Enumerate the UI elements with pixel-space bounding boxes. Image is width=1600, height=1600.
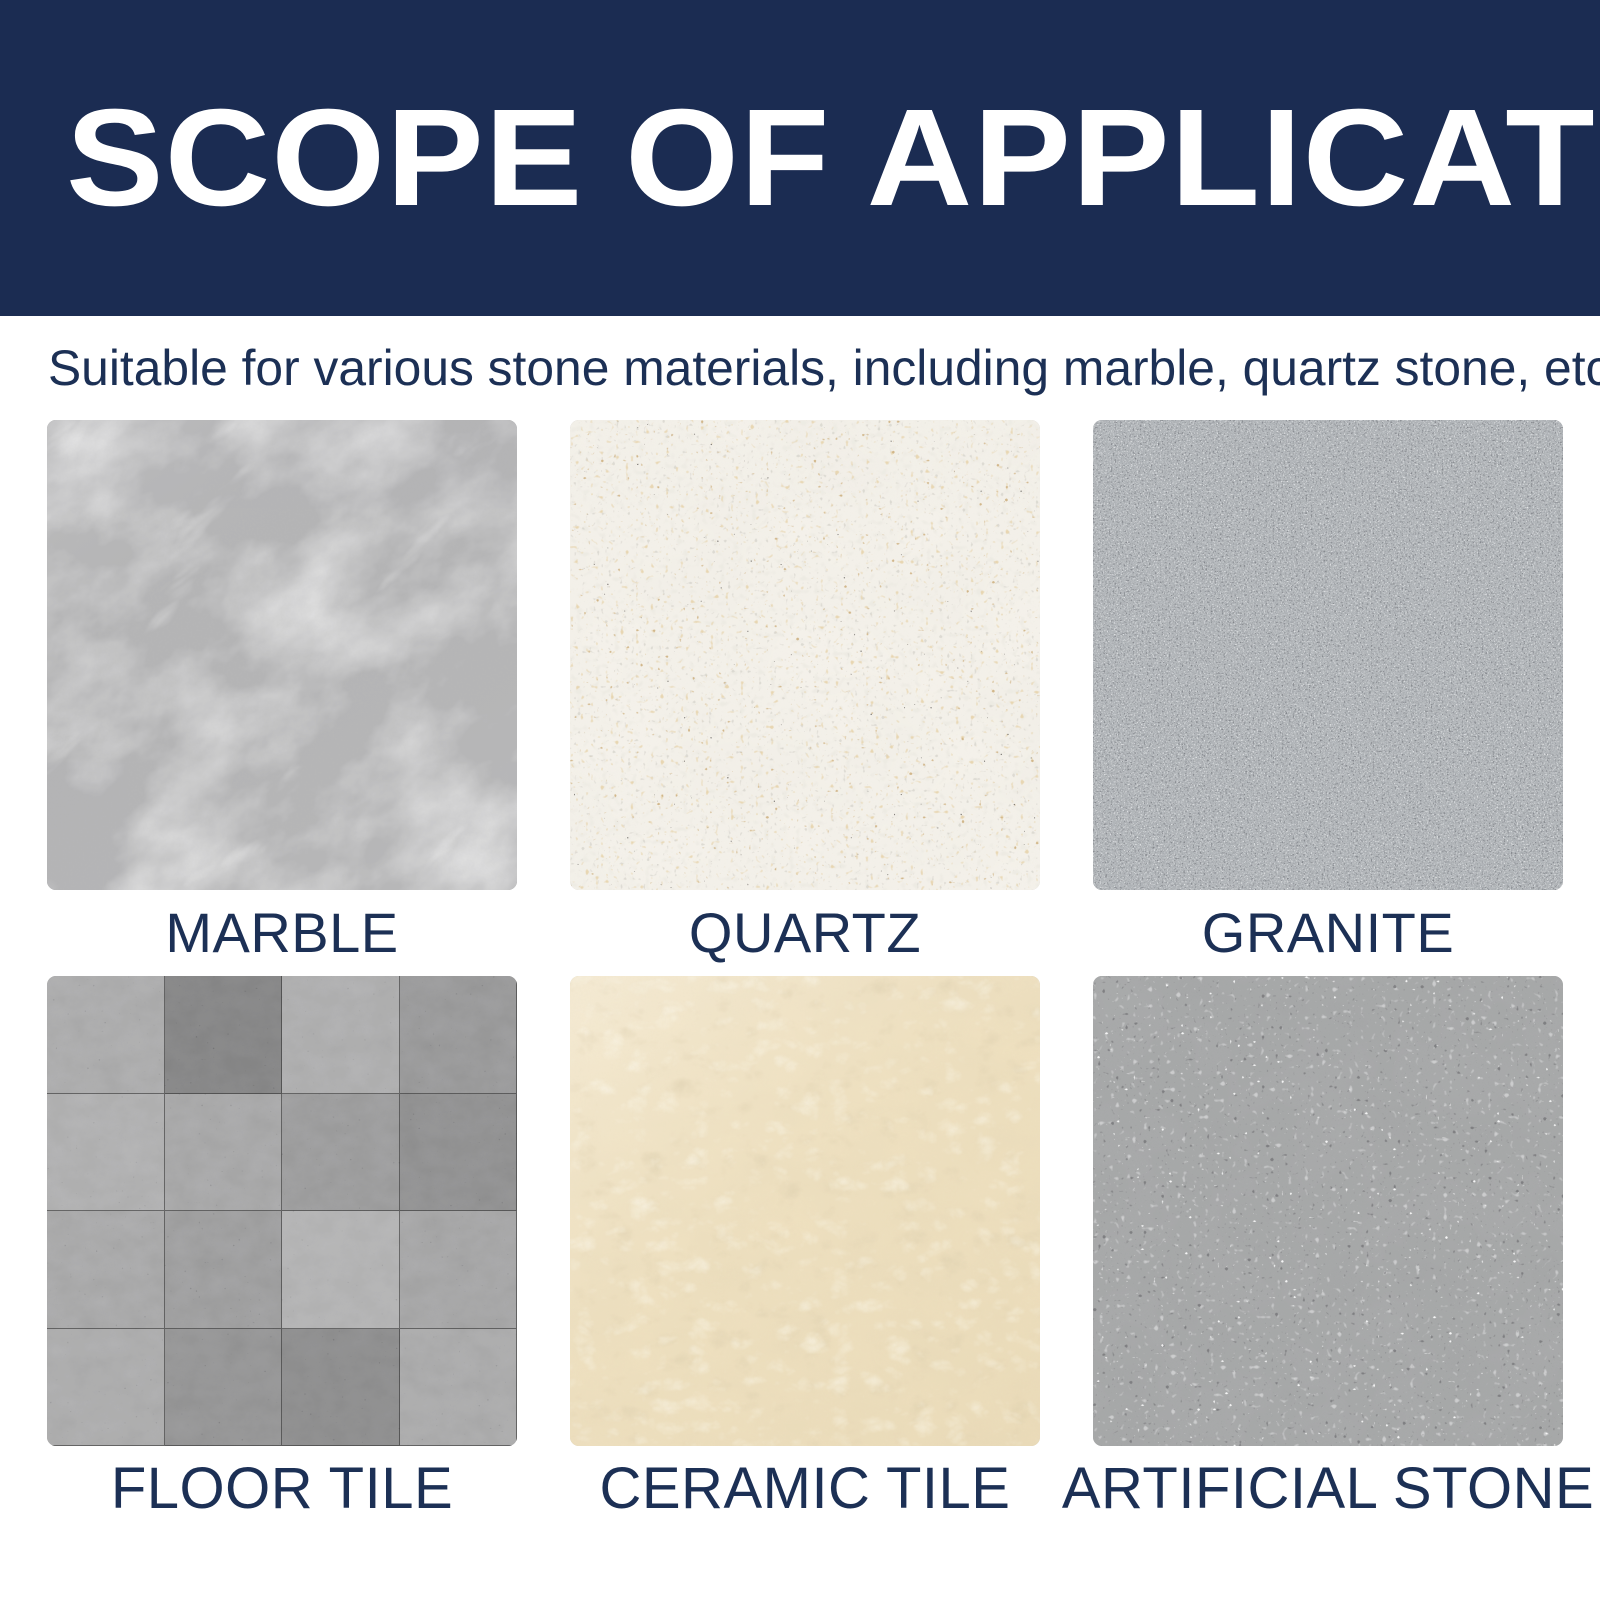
material-grid: MARBLE <box>47 420 1553 1532</box>
subtitle-row: Suitable for various stone materials, in… <box>0 316 1600 420</box>
artificial-stone-swatch[interactable] <box>1093 976 1563 1446</box>
material-label: CERAMIC TILE <box>570 1446 1040 1532</box>
floor-tile-swatch[interactable] <box>47 976 517 1446</box>
material-card-ceramic-tile[interactable]: CERAMIC TILE <box>570 976 1040 1532</box>
material-card-floor-tile[interactable]: FLOOR TILE <box>47 976 517 1532</box>
material-card-quartz[interactable]: QUARTZ <box>570 420 1040 976</box>
floor-tile-grid-overlay <box>47 976 517 1446</box>
material-label: ARTIFICIAL STONE <box>1093 1446 1563 1532</box>
header-banner: SCOPE OF APPLICATION <box>0 0 1600 316</box>
material-label: MARBLE <box>47 890 517 976</box>
marble-texture-image <box>47 420 517 890</box>
artificial-stone-texture-image <box>1093 976 1563 1446</box>
material-card-granite[interactable]: GRANITE <box>1093 420 1563 976</box>
material-card-artificial-stone[interactable]: ARTIFICIAL STONE <box>1093 976 1563 1532</box>
subtitle-text: Suitable for various stone materials, in… <box>48 343 1600 393</box>
ceramic-tile-swatch[interactable] <box>570 976 1040 1446</box>
quartz-swatch[interactable] <box>570 420 1040 890</box>
granite-texture-image <box>1093 420 1563 890</box>
marble-swatch[interactable] <box>47 420 517 890</box>
ceramic-tile-texture-image <box>570 976 1040 1446</box>
quartz-texture-image <box>570 420 1040 890</box>
page-title: SCOPE OF APPLICATION <box>66 89 1600 227</box>
material-label: FLOOR TILE <box>47 1446 517 1532</box>
material-card-marble[interactable]: MARBLE <box>47 420 517 976</box>
material-label: GRANITE <box>1093 890 1563 976</box>
material-label: QUARTZ <box>570 890 1040 976</box>
granite-swatch[interactable] <box>1093 420 1563 890</box>
